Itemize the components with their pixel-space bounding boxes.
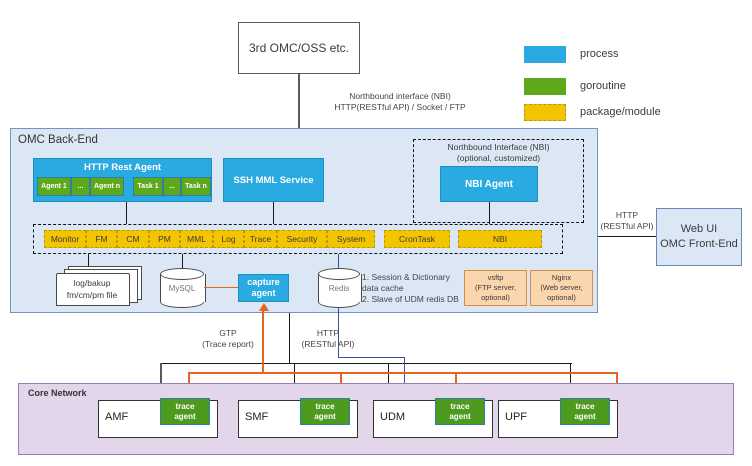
trace-agent-smf-line2: agent — [314, 412, 335, 422]
module-system[interactable]: System — [327, 230, 375, 248]
trace-agent-smf[interactable]: trace agent — [300, 398, 350, 425]
bus-gtp-horizontal — [188, 372, 618, 374]
redis-label: Redis — [329, 284, 349, 293]
file-stack-line2: fm/cm/pm file — [67, 289, 118, 301]
http-rest-agent-title: HTTP Rest Agent — [33, 160, 212, 174]
web-ui-link-label: HTTP (RESTful API) — [596, 210, 658, 232]
http-link-line1: HTTP — [288, 328, 368, 339]
http-rest-agent-agent-n[interactable]: Agent n — [90, 177, 124, 196]
module-security[interactable]: Security — [277, 230, 327, 248]
web-ui-link-line2: (RESTful API) — [596, 221, 658, 232]
ssh-mml-service-box[interactable]: SSH MML Service — [223, 158, 324, 202]
mysql-label: MySQL — [169, 284, 196, 293]
trace-agent-udm-line2: agent — [449, 412, 470, 422]
connector-mysql-to-capture-agent — [204, 287, 238, 288]
trace-agent-amf[interactable]: trace agent — [160, 398, 210, 425]
third-party-omc-oss-label: 3rd OMC/OSS etc. — [249, 41, 349, 55]
bus-gtp-vertical-riser — [262, 310, 264, 372]
module-cm[interactable]: CM — [117, 230, 149, 248]
web-ui-line2: OMC Front-End — [660, 237, 738, 252]
connector-ssh-mml-to-modules — [273, 202, 274, 224]
redis-notes: 1. Session & Dictionary data cache 2. Sl… — [362, 272, 472, 305]
redis-note-line3: 2. Slave of UDM redis DB — [362, 294, 472, 305]
gtp-link-line2: (Trace report) — [188, 339, 268, 350]
legend-label-package-module: package/module — [580, 106, 661, 118]
module-trace[interactable]: Trace — [244, 230, 277, 248]
legend-swatch-process — [524, 46, 566, 63]
redis-note-line1: 1. Session & Dictionary — [362, 272, 472, 283]
web-ui-link-line1: HTTP — [596, 210, 658, 221]
module-monitor[interactable]: Monitor — [44, 230, 86, 248]
web-ui-front-end-box[interactable]: Web UI OMC Front-End — [656, 208, 742, 266]
trace-agent-udm-line1: trace — [450, 402, 469, 412]
legend-swatch-package-module — [524, 104, 566, 121]
core-network-title: Core Network — [28, 388, 87, 398]
http-rest-agent-task-n[interactable]: Task n — [181, 177, 211, 196]
connector-rest-agent-to-modules — [126, 202, 127, 224]
legend-swatch-goroutine — [524, 78, 566, 95]
omc-back-end-title: OMC Back-End — [18, 134, 98, 146]
nginx-box[interactable]: Nginx (Web server, optional) — [530, 270, 593, 306]
nbi-agent-label: NBI Agent — [465, 179, 513, 190]
nginx-name: Nginx — [552, 273, 571, 283]
file-stack-line1: log/bakup — [74, 277, 111, 289]
bus-http-vertical-drop — [289, 313, 290, 363]
connector-modules-to-mysql — [182, 254, 183, 268]
gtp-link-label: GTP (Trace report) — [188, 328, 268, 350]
http-link-line2: (RESTful API) — [288, 339, 368, 350]
trace-agent-udm[interactable]: trace agent — [435, 398, 485, 425]
vsftp-desc-line2: optional) — [481, 293, 510, 303]
http-link-label: HTTP (RESTful API) — [288, 328, 368, 350]
module-nbi[interactable]: NBI — [458, 230, 542, 248]
bus-http-horizontal — [160, 363, 572, 364]
ssh-mml-service-label: SSH MML Service — [233, 175, 313, 186]
network-function-smf-label: SMF — [245, 411, 268, 423]
vsftp-name: vsftp — [488, 273, 504, 283]
mysql-database-cylinder[interactable]: MySQL — [160, 268, 204, 308]
http-rest-agent-task-1[interactable]: Task 1 — [133, 177, 163, 196]
nbi-group-title-line1: Northbound Interface (NBI) — [413, 142, 584, 153]
log-backup-file-stack: log/bakup fm/cm/pm file — [56, 266, 140, 306]
capture-agent-box[interactable]: capture agent — [238, 274, 289, 302]
module-crontask[interactable]: CronTask — [384, 230, 450, 248]
connector-modules-to-redis — [338, 254, 339, 268]
module-pm[interactable]: PM — [149, 230, 180, 248]
nginx-desc-line2: optional) — [547, 293, 576, 303]
module-log[interactable]: Log — [213, 230, 244, 248]
module-mml[interactable]: MML — [180, 230, 213, 248]
northbound-interface-group-title: Northbound Interface (NBI) (optional, cu… — [413, 142, 584, 164]
web-ui-line1: Web UI — [681, 222, 717, 237]
network-function-amf-label: AMF — [105, 411, 128, 423]
http-rest-agent-agent-ellipsis: ... — [71, 177, 90, 196]
nbi-agent-box[interactable]: NBI Agent — [440, 166, 538, 202]
trace-agent-upf-line1: trace — [575, 402, 594, 412]
nbi-link-label-line1: Northbound interface (NBI) — [300, 91, 500, 102]
redis-database-cylinder[interactable]: Redis — [318, 268, 360, 308]
nbi-group-title-line2: (optional, customized) — [413, 153, 584, 164]
redis-note-line2: data cache — [362, 283, 472, 294]
connector-omc-to-web-ui — [598, 236, 656, 237]
http-rest-agent-agent-1[interactable]: Agent 1 — [37, 177, 71, 196]
nbi-link-label-line2: HTTP(RESTful API) / Socket / FTP — [300, 102, 500, 113]
third-party-omc-oss-box[interactable]: 3rd OMC/OSS etc. — [238, 22, 360, 74]
bus-redis-horizontal — [338, 357, 405, 358]
connector-nbi-agent-to-modules — [489, 202, 490, 224]
trace-agent-amf-line2: agent — [174, 412, 195, 422]
nginx-desc-line1: (Web server, — [540, 283, 582, 293]
nbi-link-label: Northbound interface (NBI) HTTP(RESTful … — [300, 91, 500, 113]
network-function-udm-label: UDM — [380, 411, 405, 423]
module-fm[interactable]: FM — [86, 230, 117, 248]
bus-redis-vertical-drop — [338, 308, 339, 358]
capture-agent-line1: capture — [247, 277, 280, 288]
network-function-upf-label: UPF — [505, 411, 527, 423]
trace-agent-upf-line2: agent — [574, 412, 595, 422]
trace-agent-upf[interactable]: trace agent — [560, 398, 610, 425]
trace-agent-smf-line1: trace — [315, 402, 334, 412]
http-rest-agent-task-ellipsis: ... — [163, 177, 181, 196]
gtp-link-line1: GTP — [188, 328, 268, 339]
capture-agent-line2: agent — [251, 288, 275, 299]
legend-label-process: process — [580, 48, 619, 60]
vsftp-box[interactable]: vsftp (FTP server, optional) — [464, 270, 527, 306]
legend-label-goroutine: goroutine — [580, 80, 626, 92]
trace-agent-amf-line1: trace — [175, 402, 194, 412]
vsftp-desc-line1: (FTP server, — [475, 283, 516, 293]
